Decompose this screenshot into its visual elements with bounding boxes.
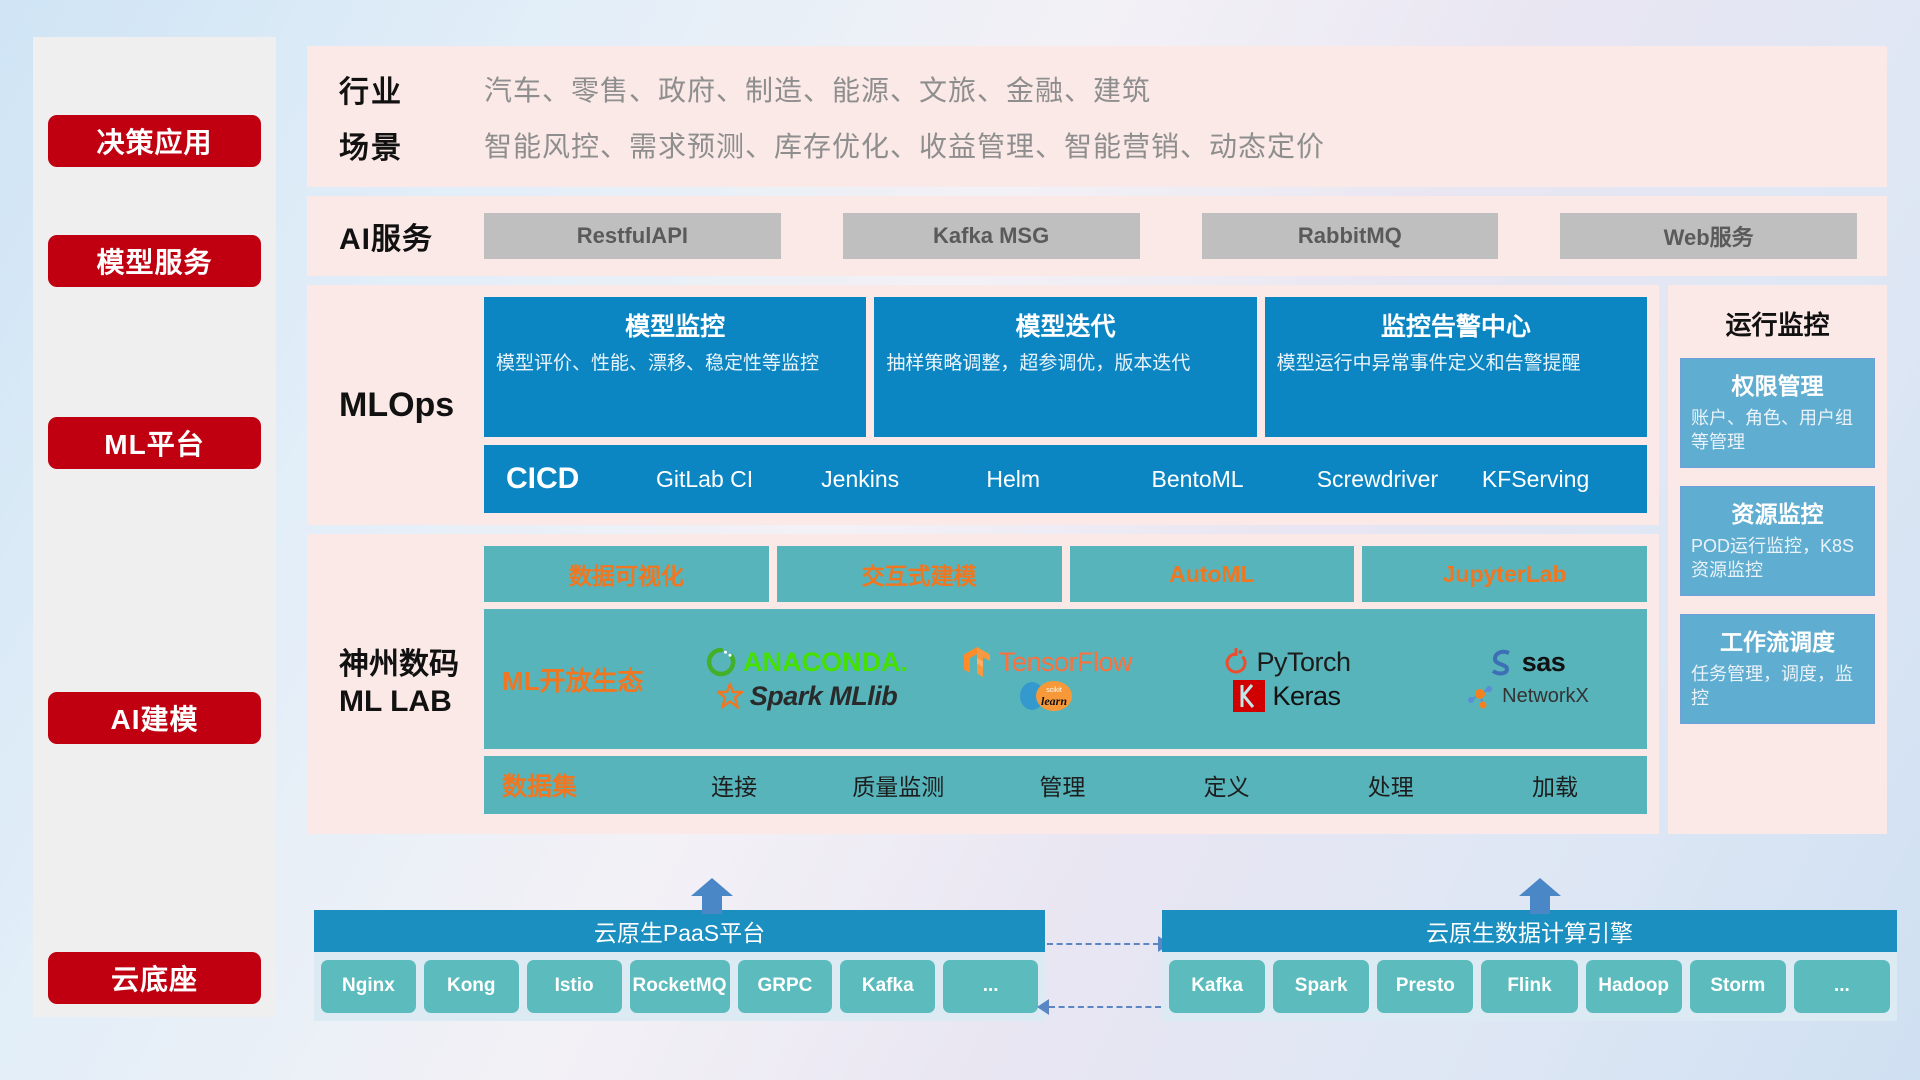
cicd-item[interactable]: Jenkins (821, 467, 986, 491)
monitor-card-title: 权限管理 (1691, 367, 1864, 401)
dataset-item[interactable]: 质量监测 (816, 768, 980, 802)
sas-logo: sas (1489, 647, 1566, 678)
scikit-learn-icon: scikit learn (1018, 679, 1076, 713)
dataset-item[interactable]: 连接 (652, 768, 816, 802)
scikit-learn-logo: scikit learn (1018, 679, 1076, 713)
engine-chip[interactable]: Spark (1273, 960, 1369, 1013)
platform-left: MLOps 模型监控 模型评价、性能、漂移、稳定性等监控 模型迭代 抽样策略调整… (307, 285, 1659, 834)
mlops-card-title: 模型迭代 (886, 307, 1244, 343)
cicd-item[interactable]: Screwdriver (1317, 467, 1482, 491)
tool-tab-data-visualization[interactable]: 数据可视化 (484, 546, 769, 602)
pytorch-icon (1223, 647, 1249, 677)
engine-chip[interactable]: Presto (1377, 960, 1473, 1013)
spark-mllib-logo: Spark MLlib (717, 681, 898, 712)
mlops-card-model-monitoring[interactable]: 模型监控 模型评价、性能、漂移、稳定性等监控 (484, 297, 866, 437)
paas-chip[interactable]: GRPC (738, 960, 833, 1013)
networkx-label: NetworkX (1502, 686, 1589, 706)
mlops-card-title: 模型监控 (496, 307, 854, 343)
monitor-card-permission[interactable]: 权限管理 账户、角色、用户组等管理 (1680, 358, 1875, 468)
engine-title: 云原生数据计算引擎 (1162, 910, 1897, 952)
spark-star-icon (717, 683, 743, 709)
modeling-tool-tabs: 数据可视化 交互式建模 AutoML JupyterLab (484, 546, 1647, 602)
stage-label: AI建模 (110, 698, 198, 738)
ai-service-chip-list: RestfulAPI Kafka MSG RabbitMQ Web服务 (484, 213, 1887, 259)
stage-column: 决策应用 模型服务 ML平台 AI建模 云底座 (33, 37, 276, 1017)
cicd-item-list: GitLab CI Jenkins Helm BentoML Screwdriv… (656, 467, 1647, 491)
scenario-value: 智能风控、需求预测、库存优化、收益管理、智能营销、动态定价 (484, 125, 1325, 165)
anaconda-logo: ANACONDA. (706, 647, 908, 678)
mlops-card-alert-center[interactable]: 监控告警中心 模型运行中异常事件定义和告警提醒 (1265, 297, 1647, 437)
svg-text:learn: learn (1041, 694, 1067, 708)
engine-chip[interactable]: Flink (1481, 960, 1577, 1013)
stage-pill-cloud-base[interactable]: 云底座 (48, 952, 261, 1004)
connector-arrow-left-icon (1037, 999, 1049, 1015)
paas-chip[interactable]: Nginx (321, 960, 416, 1013)
spark-mllib-label: Spark MLlib (750, 681, 898, 712)
runtime-monitoring-column: 运行监控 权限管理 账户、角色、用户组等管理 资源监控 POD运行监控，K8S资… (1668, 285, 1887, 834)
monitor-card-desc: POD运行监控，K8S资源监控 (1691, 535, 1864, 583)
anaconda-icon (706, 647, 736, 677)
ecosystem-logo-grid: ANACONDA. TensorFlow (687, 645, 1647, 713)
modeling-content: 数据可视化 交互式建模 AutoML JupyterLab ML开放生态 (484, 546, 1647, 820)
ai-service-chip[interactable]: RabbitMQ (1202, 213, 1499, 259)
stage-label: 云底座 (111, 958, 198, 998)
stage-label: 决策应用 (96, 121, 212, 161)
monitor-card-desc: 任务管理，调度，监控 (1691, 663, 1864, 711)
runtime-monitoring-title: 运行监控 (1680, 305, 1875, 342)
monitor-card-title: 资源监控 (1691, 495, 1864, 529)
ml-open-ecosystem-title: ML开放生态 (502, 661, 687, 698)
paas-chip[interactable]: ... (943, 960, 1038, 1013)
engine-chip[interactable]: Kafka (1169, 960, 1265, 1013)
svg-text:scikit: scikit (1046, 687, 1062, 694)
cloud-native-engine-group: 云原生数据计算引擎 Kafka Spark Presto Flink Hadoo… (1162, 910, 1897, 1021)
architecture-main: 行业 汽车、零售、政府、制造、能源、文旅、金融、建筑 场景 智能风控、需求预测、… (307, 46, 1887, 834)
industry-row: 行业 汽车、零售、政府、制造、能源、文旅、金融、建筑 (339, 61, 1887, 117)
sas-icon (1489, 648, 1515, 676)
engine-chip-list: Kafka Spark Presto Flink Hadoop Storm ..… (1162, 952, 1897, 1021)
paas-title: 云原生PaaS平台 (314, 910, 1045, 952)
dataset-item[interactable]: 处理 (1309, 768, 1473, 802)
tensorflow-icon (962, 646, 992, 678)
stage-label: 模型服务 (96, 241, 212, 281)
mlops-card-desc: 模型运行中异常事件定义和告警提醒 (1277, 351, 1635, 376)
monitor-card-desc: 账户、角色、用户组等管理 (1691, 407, 1864, 455)
mlops-card-model-iteration[interactable]: 模型迭代 抽样策略调整，超参调优，版本迭代 (874, 297, 1256, 437)
cicd-item[interactable]: Helm (986, 467, 1151, 491)
connector-line-top (1047, 943, 1159, 945)
engine-chip[interactable]: Hadoop (1586, 960, 1682, 1013)
dataset-title: 数据集 (502, 767, 652, 803)
platform-row: MLOps 模型监控 模型评价、性能、漂移、稳定性等监控 模型迭代 抽样策略调整… (307, 285, 1887, 834)
stage-pill-ml-platform[interactable]: ML平台 (48, 417, 261, 469)
tool-tab-interactive-modeling[interactable]: 交互式建模 (777, 546, 1062, 602)
cloud-foundation-row: 云原生PaaS平台 Nginx Kong Istio RocketMQ GRPC… (307, 890, 1897, 1040)
networkx-icon (1465, 682, 1495, 710)
dataset-item[interactable]: 管理 (980, 768, 1144, 802)
keras-logo: Keras (1233, 680, 1340, 712)
up-arrow-icon (689, 878, 735, 914)
ml-lab-label: 神州数码ML LAB (339, 546, 484, 820)
cicd-title: CICD (506, 462, 656, 496)
sas-label: sas (1522, 647, 1566, 678)
monitor-card-workflow[interactable]: 工作流调度 任务管理，调度，监控 (1680, 614, 1875, 724)
stage-pill-model-service[interactable]: 模型服务 (48, 235, 261, 287)
stage-pill-decision-app[interactable]: 决策应用 (48, 115, 261, 167)
stage-pill-ai-modeling[interactable]: AI建模 (48, 692, 261, 744)
tool-tab-automl[interactable]: AutoML (1070, 546, 1355, 602)
ai-service-label: AI服务 (339, 214, 484, 258)
ai-service-chip[interactable]: RestfulAPI (484, 213, 781, 259)
paas-chip-list: Nginx Kong Istio RocketMQ GRPC Kafka ... (314, 952, 1045, 1021)
monitor-card-resource[interactable]: 资源监控 POD运行监控，K8S资源监控 (1680, 486, 1875, 596)
dataset-item-list: 连接 质量监测 管理 定义 处理 加载 (652, 768, 1637, 802)
pytorch-logo: PyTorch (1223, 647, 1350, 678)
scenario-key: 场景 (339, 123, 484, 167)
connector-line-bottom (1049, 1006, 1161, 1008)
engine-chip[interactable]: ... (1794, 960, 1890, 1013)
paas-chip[interactable]: RocketMQ (630, 960, 730, 1013)
mlops-content: 模型监控 模型评价、性能、漂移、稳定性等监控 模型迭代 抽样策略调整，超参调优，… (484, 297, 1647, 513)
ai-service-chip[interactable]: Kafka MSG (843, 213, 1140, 259)
tool-tab-jupyterlab[interactable]: JupyterLab (1362, 546, 1647, 602)
paas-chip[interactable]: Kong (424, 960, 519, 1013)
industry-key: 行业 (339, 67, 484, 111)
mlops-card-desc: 模型评价、性能、漂移、稳定性等监控 (496, 351, 854, 376)
mlops-card-desc: 抽样策略调整，超参调优，版本迭代 (886, 351, 1244, 376)
mlops-card-title: 监控告警中心 (1277, 307, 1635, 343)
engine-chip[interactable]: Storm (1690, 960, 1786, 1013)
industry-value: 汽车、零售、政府、制造、能源、文旅、金融、建筑 (484, 69, 1151, 109)
cicd-item[interactable]: KFServing (1482, 467, 1647, 491)
ml-open-ecosystem: ML开放生态 ANACONDA. (484, 609, 1647, 749)
industry-scenario-band: 行业 汽车、零售、政府、制造、能源、文旅、金融、建筑 场景 智能风控、需求预测、… (307, 46, 1887, 187)
dataset-bar: 数据集 连接 质量监测 管理 定义 处理 加载 (484, 756, 1647, 814)
pytorch-label: PyTorch (1256, 647, 1350, 678)
paas-chip[interactable]: Istio (527, 960, 622, 1013)
keras-label: Keras (1272, 681, 1340, 712)
networkx-logo: NetworkX (1465, 682, 1589, 710)
mlops-label: MLOps (339, 297, 484, 513)
mlops-band: MLOps 模型监控 模型评价、性能、漂移、稳定性等监控 模型迭代 抽样策略调整… (307, 285, 1659, 525)
tensorflow-logo: TensorFlow (962, 646, 1132, 678)
tensorflow-label: TensorFlow (999, 647, 1132, 678)
ai-modeling-band: 神州数码ML LAB 数据可视化 交互式建模 AutoML JupyterLab… (307, 534, 1659, 834)
paas-chip[interactable]: Kafka (840, 960, 935, 1013)
cicd-item[interactable]: GitLab CI (656, 467, 821, 491)
mlops-card-list: 模型监控 模型评价、性能、漂移、稳定性等监控 模型迭代 抽样策略调整，超参调优，… (484, 297, 1647, 437)
cicd-bar: CICD GitLab CI Jenkins Helm BentoML Scre… (484, 445, 1647, 513)
ai-service-band: AI服务 RestfulAPI Kafka MSG RabbitMQ Web服务 (307, 196, 1887, 276)
dataset-item[interactable]: 定义 (1145, 768, 1309, 802)
stage-label: ML平台 (104, 423, 204, 463)
cloud-native-paas-group: 云原生PaaS平台 Nginx Kong Istio RocketMQ GRPC… (314, 910, 1045, 1021)
scenario-row: 场景 智能风控、需求预测、库存优化、收益管理、智能营销、动态定价 (339, 117, 1887, 173)
dataset-item[interactable]: 加载 (1473, 768, 1637, 802)
keras-icon (1233, 680, 1265, 712)
monitor-card-title: 工作流调度 (1691, 623, 1864, 657)
up-arrow-icon (1517, 878, 1563, 914)
ai-service-chip[interactable]: Web服务 (1560, 213, 1857, 259)
cicd-item[interactable]: BentoML (1152, 467, 1317, 491)
anaconda-label: ANACONDA. (743, 647, 908, 678)
